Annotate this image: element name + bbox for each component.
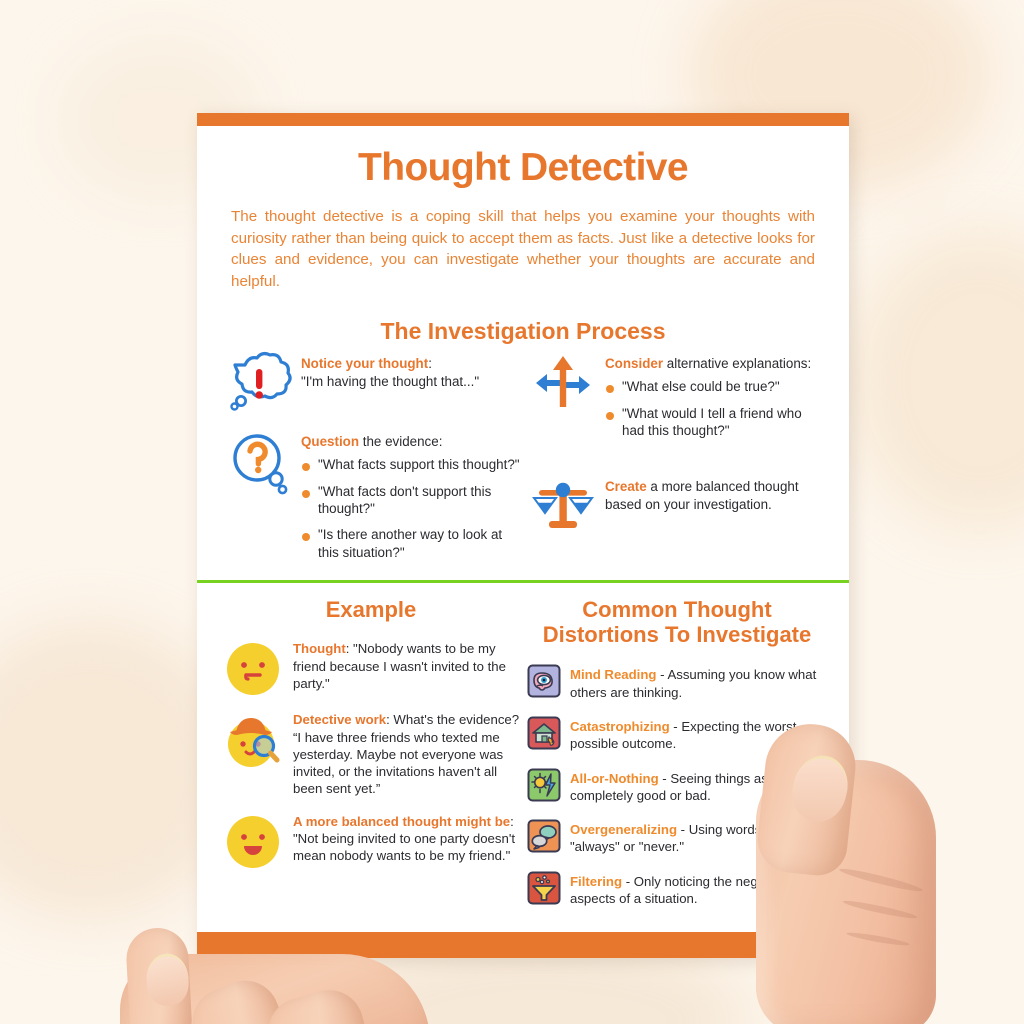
page-title: Thought Detective: [231, 146, 815, 190]
bullet-item: "What else could be true?": [605, 378, 825, 395]
distortion-item-text: Catastrophizing - Expecting the worst po…: [570, 715, 827, 753]
copyright-text: © 2025: [757, 940, 791, 951]
three-arrows-icon: [531, 353, 595, 448]
left-hand-palm: [120, 954, 430, 1024]
intro-paragraph: The thought detective is a coping skill …: [231, 206, 815, 292]
sun-lightning-icon: [527, 768, 561, 802]
process-right-column: Consider alternative explanations: "What…: [531, 353, 825, 570]
bullet-item: "What facts don't support this thought?": [301, 483, 521, 518]
worksheet-sheet: Thought Detective The thought detective …: [197, 113, 849, 958]
process-step-line: Notice your thought:: [301, 355, 521, 373]
distortions-heading-line1: Common Thought: [527, 597, 827, 622]
distortions-heading-line2: Distortions To Investigate: [527, 622, 827, 647]
example-item-lead: Thought: [293, 641, 346, 656]
process-step: Question the evidence: "What facts suppo…: [227, 431, 521, 570]
poster-scene: Thought Detective The thought detective …: [0, 0, 1024, 1024]
speech-bubbles-icon: [527, 819, 561, 853]
distortions-column: Common Thought Distortions To Investigat…: [527, 597, 827, 932]
left-hand-index-finger: [125, 926, 193, 1024]
top-accent-bar: [197, 113, 849, 126]
process-step: Consider alternative explanations: "What…: [531, 353, 825, 448]
process-left-column: Notice your thought: "I'm having the tho…: [227, 353, 521, 570]
process-step-lead: Question: [301, 434, 359, 449]
distortion-item: Filtering - Only noticing the negative a…: [527, 870, 827, 908]
bullet-item: "What facts support this thought?": [301, 456, 521, 473]
example-heading: Example: [221, 597, 521, 622]
thought-bubble-exclamation-icon: [227, 353, 291, 415]
distortions-heading: Common Thought Distortions To Investigat…: [527, 597, 827, 647]
process-step-line: Create a more balanced thought based on …: [605, 478, 825, 514]
consider-bullet-list: "What else could be true?" "What would I…: [605, 378, 825, 439]
bullet-item: "What would I tell a friend who had this…: [605, 405, 825, 440]
left-index-nail: [145, 952, 190, 1006]
distortion-name: All-or-Nothing: [570, 771, 659, 786]
example-item: A more balanced thought might be: "Not b…: [221, 813, 521, 869]
process-step-line: Question the evidence:: [301, 433, 521, 451]
example-item-text: Detective work: What's the evidence? “I …: [293, 711, 521, 797]
example-column: Example Thought: "No: [221, 597, 521, 932]
bottom-accent-bar: © 2025: [197, 932, 849, 958]
example-item: Detective work: What's the evidence? “I …: [221, 711, 521, 797]
process-step-text: Question the evidence: "What facts suppo…: [301, 431, 521, 570]
bullet-item: "Is there another way to look at this si…: [301, 526, 521, 561]
left-hand-finger: [182, 970, 294, 1024]
distortion-item-text: Mind Reading - Assuming you know what ot…: [570, 663, 827, 701]
burning-house-icon: [527, 716, 561, 750]
process-step-body: "I'm having the thought that...": [301, 373, 521, 391]
example-item-text: A more balanced thought might be: "Not b…: [293, 813, 521, 869]
process-step-lead: Create: [605, 479, 647, 494]
process-step-text: Create a more balanced thought based on …: [605, 476, 825, 534]
investigation-process-grid: Notice your thought: "I'm having the tho…: [197, 353, 849, 570]
distortion-item: Overgeneralizing - Using words like "alw…: [527, 818, 827, 856]
header-section: Thought Detective The thought detective …: [197, 126, 849, 296]
process-step-text: Consider alternative explanations: "What…: [605, 353, 825, 448]
right-hand-crease: [838, 866, 923, 895]
process-step-lead-suffix: the evidence:: [359, 434, 442, 449]
process-step-lead: Notice your thought: [301, 356, 428, 371]
distortion-name: Overgeneralizing: [570, 822, 677, 837]
lower-section: Example Thought: "No: [197, 583, 849, 932]
right-hand-crease: [846, 930, 910, 947]
distortion-name: Mind Reading: [570, 667, 656, 682]
distortion-name: Filtering: [570, 874, 622, 889]
detective-face-icon: [221, 711, 285, 797]
example-item: Thought: "Nobody wants to be my friend b…: [221, 640, 521, 696]
funnel-icon: [527, 871, 561, 905]
distortion-item-text: All-or-Nothing - Seeing things as comple…: [570, 767, 827, 805]
process-step-lead-suffix: :: [428, 356, 432, 371]
brain-eye-icon: [527, 664, 561, 698]
distortion-item-text: Overgeneralizing - Using words like "alw…: [570, 818, 827, 856]
left-hand-finger: [260, 982, 372, 1024]
right-hand-crease: [842, 898, 918, 921]
balance-scales-icon: [531, 476, 595, 534]
process-step: Notice your thought: "I'm having the tho…: [227, 353, 521, 415]
process-step-lead: Consider: [605, 356, 663, 371]
example-item-lead: A more balanced thought might be: [293, 814, 510, 829]
thought-bubble-question-icon: [227, 431, 291, 570]
process-step-line: Consider alternative explanations:: [605, 355, 825, 373]
process-heading: The Investigation Process: [197, 318, 849, 345]
distortion-item: Catastrophizing - Expecting the worst po…: [527, 715, 827, 753]
neutral-face-icon: [221, 640, 285, 696]
smiling-face-icon: [221, 813, 285, 869]
process-step-lead-suffix: alternative explanations:: [663, 356, 811, 371]
distortion-item: Mind Reading - Assuming you know what ot…: [527, 663, 827, 701]
distortion-item: All-or-Nothing - Seeing things as comple…: [527, 767, 827, 805]
process-step: Create a more balanced thought based on …: [531, 476, 825, 534]
background-texture-blot: [850, 230, 1024, 530]
distortion-name: Catastrophizing: [570, 719, 670, 734]
distortion-item-text: Filtering - Only noticing the negative a…: [570, 870, 827, 908]
sheet-body: Thought Detective The thought detective …: [197, 126, 849, 932]
process-step-text: Notice your thought: "I'm having the tho…: [301, 353, 521, 415]
example-item-lead: Detective work: [293, 712, 386, 727]
question-bullet-list: "What facts support this thought?" "What…: [301, 456, 521, 561]
example-item-text: Thought: "Nobody wants to be my friend b…: [293, 640, 521, 696]
